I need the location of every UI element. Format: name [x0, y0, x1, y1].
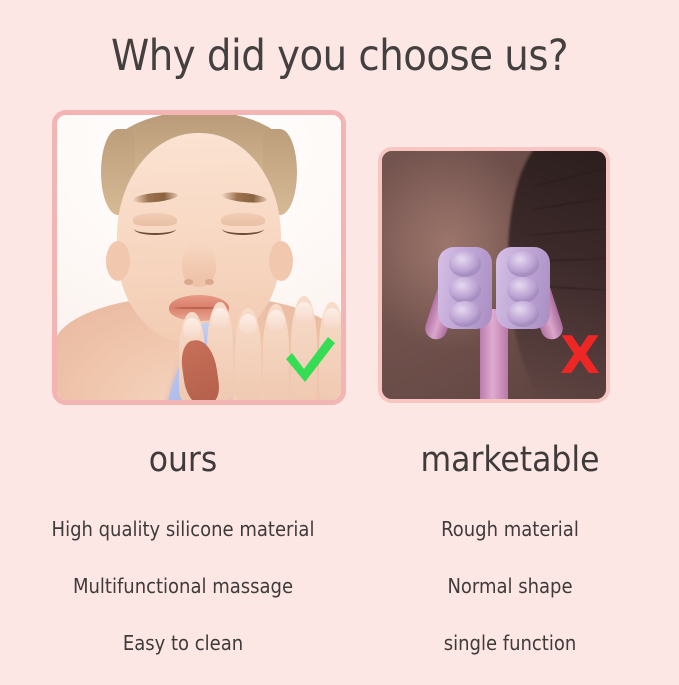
fingernail: [324, 308, 341, 328]
column-label-marketable: marketable: [400, 440, 620, 480]
feature-item: single function: [400, 628, 620, 685]
nostril-right: [205, 279, 214, 285]
roller-bump: [449, 251, 481, 277]
feature-list-ours: High quality silicone material Multifunc…: [0, 514, 366, 685]
eye-left: [134, 223, 176, 235]
purple-roller-right: [496, 247, 550, 329]
roller-bump: [507, 251, 539, 277]
column-label-ours: ours: [0, 440, 366, 480]
feature-item: Normal shape: [400, 571, 620, 628]
feature-list-marketable: Rough material Normal shape single funct…: [400, 514, 620, 685]
fingernail: [240, 314, 257, 334]
roller-bump: [507, 277, 539, 303]
fingernail: [268, 310, 285, 330]
roller-bump: [507, 301, 539, 327]
purple-roller-left: [438, 247, 492, 329]
feature-item: Easy to clean: [0, 628, 366, 685]
x-icon: X: [560, 330, 598, 382]
fingernail: [212, 308, 229, 328]
feature-item: Multifunctional massage: [0, 571, 366, 628]
page-title: Why did you choose us?: [0, 31, 679, 81]
feature-item: High quality silicone material: [0, 514, 366, 571]
feature-item: Rough material: [400, 514, 620, 571]
ear-right: [269, 241, 293, 281]
fingernail: [184, 318, 201, 338]
eye-right: [222, 223, 264, 235]
roller-bump: [449, 301, 481, 327]
nostril-left: [184, 279, 193, 285]
fingernail: [296, 302, 313, 322]
ear-left: [106, 241, 130, 281]
roller-bump: [449, 277, 481, 303]
check-icon: [282, 333, 338, 389]
